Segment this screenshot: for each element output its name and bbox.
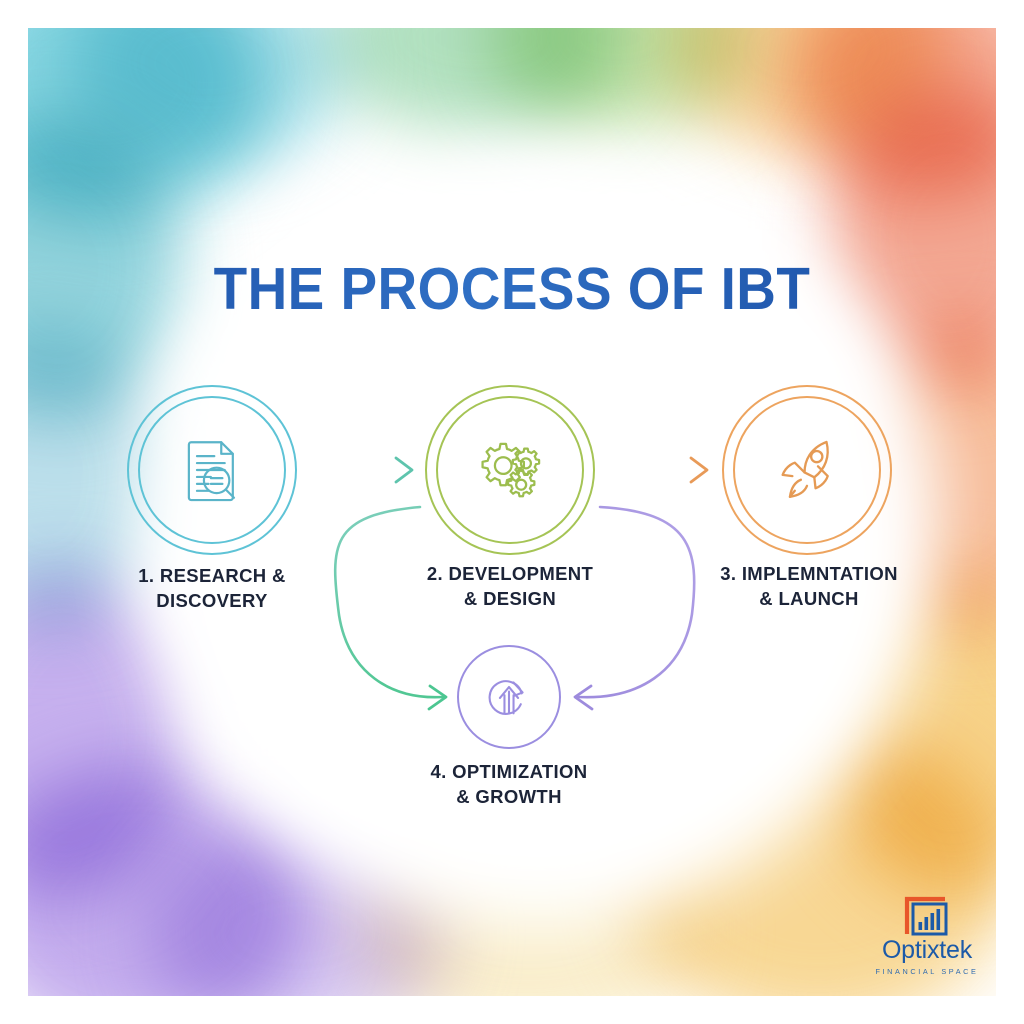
- brand-logo[interactable]: Optixtek FINANCIAL SPACE: [862, 893, 992, 976]
- step-2-label: 2. DEVELOPMENT & DESIGN: [380, 561, 640, 611]
- infographic-canvas: THE PROCESS OF IBT: [0, 0, 1024, 1024]
- watercolor-blob-bottom-left: [28, 768, 308, 996]
- rocket-icon: [768, 431, 846, 509]
- step-3-node[interactable]: 3. IMPLEMNTATION & LAUNCH: [722, 385, 892, 555]
- watercolor-blob-left-lower: [28, 568, 188, 898]
- gears-icon: [472, 432, 548, 508]
- page-title: THE PROCESS OF IBT: [36, 255, 988, 323]
- step-3-label: 3. IMPLEMNTATION & LAUNCH: [675, 561, 943, 611]
- step-4-node[interactable]: 4. OPTIMIZATION & GROWTH: [457, 645, 561, 749]
- watercolor-blob-top-left-2: [68, 28, 348, 168]
- watercolor-blob-right-upper: [828, 88, 996, 388]
- logo-tagline: FINANCIAL SPACE: [862, 967, 992, 976]
- watercolor-blob-bottom-left-2: [148, 828, 448, 996]
- watercolor-blob-top-center: [328, 28, 628, 138]
- step-1-label: 1. RESEARCH & DISCOVERY: [82, 563, 342, 613]
- step-4-label: 4. OPTIMIZATION & GROWTH: [377, 759, 641, 809]
- watercolor-blob-top-right-2: [788, 28, 996, 198]
- logo-wordmark: Optixtek: [862, 938, 992, 963]
- logo-mark-icon: [901, 893, 953, 937]
- watercolor-blob-bottom-center: [358, 818, 698, 996]
- arrow-step2-to-step3: [602, 458, 707, 482]
- step-2-node[interactable]: 2. DEVELOPMENT & DESIGN: [425, 385, 595, 555]
- watercolor-blob-top-left: [28, 28, 268, 218]
- watercolor-blob-top-center-2: [488, 28, 748, 133]
- watercolor-blob-top-right: [668, 28, 948, 153]
- refresh-up-arrow-icon: [480, 668, 538, 726]
- document-search-icon: [175, 433, 249, 507]
- step-1-node[interactable]: 1. RESEARCH & DISCOVERY: [127, 385, 297, 555]
- watercolor-blob-right-lower: [828, 568, 996, 898]
- arrow-step1-to-step2: [307, 458, 412, 482]
